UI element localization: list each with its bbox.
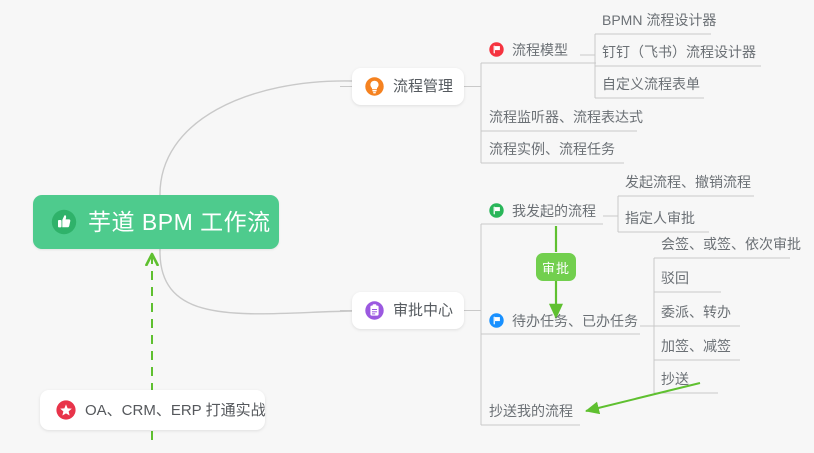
clipboard-icon [365,301,384,320]
leaf-custom-form[interactable]: 自定义流程表单 [602,77,700,96]
leaf-liucheng-moxing[interactable]: 流程模型 [489,42,568,62]
leaf-my-started[interactable]: 我发起的流程 [489,203,596,223]
bottom-note-node[interactable]: OA、CRM、ERP 打通实战 [40,390,265,430]
leaf-start-cancel[interactable]: 发起流程、撤销流程 [625,175,751,194]
leaf-add-remove-sign[interactable]: 加签、减签 [661,339,731,358]
leaf-label-bpmn-designer: BPMN 流程设计器 [602,13,716,27]
connector-root-to-shenpi [160,249,352,314]
leaf-label-start-cancel: 发起流程、撤销流程 [625,175,751,189]
thumbs-up-icon [51,209,77,235]
flag-icon [489,313,504,328]
leaf-label-todo-done: 待办任务、已办任务 [512,314,638,328]
branch-label-shenpi-zhongxin: 审批中心 [393,303,453,318]
leaf-assign-approver[interactable]: 指定人审批 [625,211,695,230]
leaf-label-liucheng-moxing: 流程模型 [512,43,568,57]
leaf-label-assign-approver: 指定人审批 [625,211,695,225]
lightbulb-icon [365,77,384,96]
leaf-cc-to-me[interactable]: 抄送我的流程 [489,404,573,423]
leaf-label-custom-form: 自定义流程表单 [602,77,700,91]
leaf-label-add-remove-sign: 加签、减签 [661,339,731,353]
leaf-bpmn-designer[interactable]: BPMN 流程设计器 [602,13,716,32]
bottom-note-label: OA、CRM、ERP 打通实战 [85,403,266,418]
flag-icon [489,42,504,57]
leaf-instance-task[interactable]: 流程实例、流程任务 [489,142,615,161]
leaf-label-delegate-transfer: 委派、转办 [661,305,731,319]
leaf-label-reject: 驳回 [661,271,689,285]
leaf-dingtalk-designer[interactable]: 钉钉（飞书）流程设计器 [602,45,756,64]
leaf-label-my-started: 我发起的流程 [512,204,596,218]
leaf-label-instance-task: 流程实例、流程任务 [489,142,615,156]
root-label: 芋道 BPM 工作流 [88,211,271,234]
leaf-label-countersign: 会签、或签、依次审批 [661,237,801,251]
badge-approve-label: 审批 [542,258,570,277]
leaf-label-dingtalk-designer: 钉钉（飞书）流程设计器 [602,45,756,59]
leaf-countersign[interactable]: 会签、或签、依次审批 [661,237,801,256]
branch-node-shenpi-zhongxin[interactable]: 审批中心 [352,292,464,329]
leaf-listener-expression[interactable]: 流程监听器、流程表达式 [489,110,643,129]
flag-icon [489,203,504,218]
leaf-label-cc: 抄送 [661,372,689,386]
root-node[interactable]: 芋道 BPM 工作流 [33,195,279,249]
leaf-todo-done[interactable]: 待办任务、已办任务 [489,313,638,333]
branch-node-liucheng-guanli[interactable]: 流程管理 [352,68,464,105]
badge-approve: 审批 [536,253,576,281]
connector-root-to-liucheng [160,81,352,197]
leaf-label-cc-to-me: 抄送我的流程 [489,404,573,418]
leaf-reject[interactable]: 驳回 [661,271,689,290]
mindmap-canvas: 芋道 BPM 工作流 流程管理 流程模型 BPMN 流程设计器 钉钉（飞书 [0,0,814,453]
leaf-delegate-transfer[interactable]: 委派、转办 [661,305,731,324]
branch-label-liucheng-guanli: 流程管理 [393,79,453,94]
leaf-label-listener-expression: 流程监听器、流程表达式 [489,110,643,124]
star-icon [56,400,76,420]
leaf-cc[interactable]: 抄送 [661,372,689,391]
